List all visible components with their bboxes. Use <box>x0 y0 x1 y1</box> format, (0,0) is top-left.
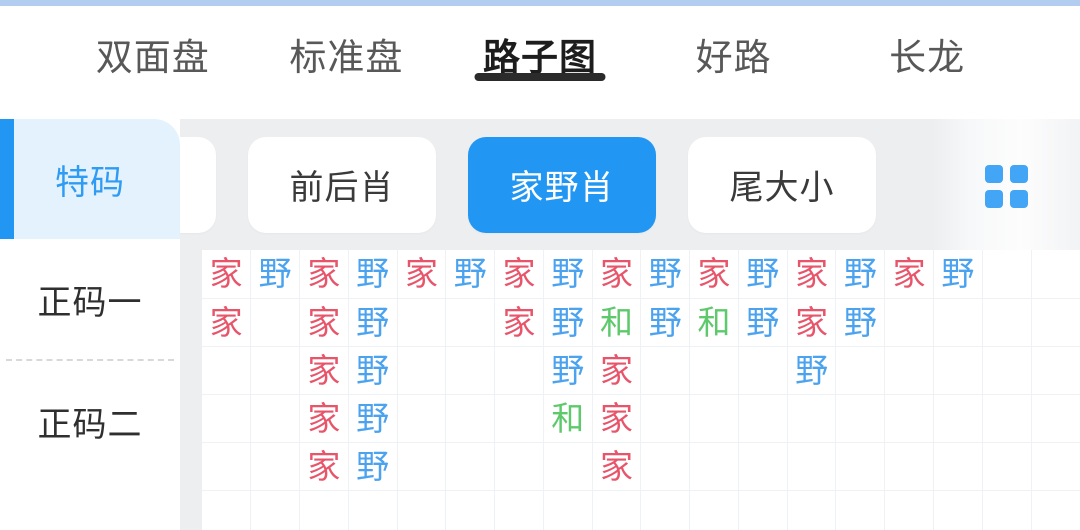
road-cell-c-jia: 家 <box>300 298 349 346</box>
road-cell-c-ye: 野 <box>348 346 397 394</box>
road-cell-c-he: 和 <box>543 394 592 442</box>
road-cell-c-ye: 野 <box>348 394 397 442</box>
right-panel: 前后肖 家野肖 尾大小 家野家野家野家野家野家野家野家野家家野家野和野和野家野家… <box>180 119 1080 530</box>
road-cell-empty <box>982 442 1031 490</box>
road-cell-empty <box>885 442 934 490</box>
road-cell-c-ye: 野 <box>348 442 397 490</box>
road-cell-empty <box>885 394 934 442</box>
road-cell-c-he: 和 <box>592 298 641 346</box>
tab-haolu[interactable]: 好路 <box>637 6 831 81</box>
road-cell-empty <box>933 298 982 346</box>
road-cell-c-ye: 野 <box>787 346 836 394</box>
road-cell-empty <box>251 490 300 530</box>
road-cell-c-he: 和 <box>690 298 739 346</box>
road-cell-c-jia: 家 <box>592 250 641 298</box>
tab-shuangmianpan[interactable]: 双面盘 <box>56 6 250 81</box>
filter-chip-scroller[interactable]: 前后肖 家野肖 尾大小 <box>180 137 876 233</box>
road-cell-empty <box>251 442 300 490</box>
road-cell-empty <box>933 346 982 394</box>
road-cell-empty <box>641 490 690 530</box>
road-cell-c-jia: 家 <box>300 346 349 394</box>
road-cell-empty <box>592 490 641 530</box>
road-cell-empty <box>787 490 836 530</box>
sidebar-item-tema[interactable]: 特码 <box>0 119 180 239</box>
road-cell-empty <box>397 346 446 394</box>
road-cell-empty <box>397 490 446 530</box>
road-cell-empty <box>202 442 251 490</box>
road-cell-empty <box>836 490 885 530</box>
road-table-body: 家野家野家野家野家野家野家野家野家家野家野和野和野家野家野野家野家野和家家野家 <box>202 250 1080 530</box>
road-cell-c-jia: 家 <box>495 250 544 298</box>
road-row: 家野家野家野家野家野家野家野家野 <box>202 250 1080 298</box>
road-cell-empty <box>641 346 690 394</box>
road-cell-empty <box>836 394 885 442</box>
road-cell-empty <box>1031 442 1080 490</box>
sidebar-item-zhengmaer[interactable]: 正码二 <box>0 361 180 481</box>
road-cell-empty <box>982 346 1031 394</box>
road-cell-c-jia: 家 <box>885 250 934 298</box>
road-cell-c-jia: 家 <box>690 250 739 298</box>
road-cell-c-jia: 家 <box>592 346 641 394</box>
tab-label: 标准盘 <box>289 35 403 81</box>
road-cell-empty <box>543 490 592 530</box>
road-cell-c-jia: 家 <box>495 298 544 346</box>
road-cell-c-jia: 家 <box>787 298 836 346</box>
road-cell-empty <box>1031 394 1080 442</box>
sidebar-item-zhengmayi[interactable]: 正码一 <box>0 239 180 359</box>
road-cell-c-jia: 家 <box>397 250 446 298</box>
top-tab-bar: 双面盘 标准盘 路子图 好路 长龙 <box>0 6 1080 119</box>
road-cell-c-jia: 家 <box>202 250 251 298</box>
road-cell-empty <box>202 394 251 442</box>
road-cell-empty <box>446 346 495 394</box>
road-cell-empty <box>982 490 1031 530</box>
road-cell-empty <box>982 298 1031 346</box>
road-cell-empty <box>397 298 446 346</box>
grid-2x2-icon <box>985 165 1028 208</box>
road-cell-empty <box>348 490 397 530</box>
road-cell-c-ye: 野 <box>543 250 592 298</box>
road-cell-empty <box>982 250 1031 298</box>
road-cell-empty <box>446 490 495 530</box>
road-cell-c-ye: 野 <box>933 250 982 298</box>
road-cell-empty <box>495 442 544 490</box>
road-cell-c-jia: 家 <box>202 298 251 346</box>
road-cell-empty <box>397 394 446 442</box>
road-cell-c-jia: 家 <box>300 394 349 442</box>
road-cell-empty <box>738 346 787 394</box>
road-cell-c-jia: 家 <box>300 250 349 298</box>
filter-chip-jiayexiao[interactable]: 家野肖 <box>468 137 656 233</box>
tab-changlong[interactable]: 长龙 <box>830 6 1024 81</box>
road-row: 家野野家野 <box>202 346 1080 394</box>
road-cell-empty <box>787 442 836 490</box>
road-cell-c-ye: 野 <box>446 250 495 298</box>
road-cell-c-ye: 野 <box>738 298 787 346</box>
road-cell-empty <box>836 346 885 394</box>
road-cell-empty <box>641 394 690 442</box>
road-cell-empty <box>495 490 544 530</box>
filter-chip-partial[interactable] <box>180 137 216 233</box>
road-cell-c-jia: 家 <box>300 442 349 490</box>
road-cell-empty <box>202 490 251 530</box>
road-cell-empty <box>933 394 982 442</box>
road-cell-empty <box>836 442 885 490</box>
road-cell-empty <box>543 442 592 490</box>
road-cell-empty <box>1031 298 1080 346</box>
road-cell-empty <box>690 394 739 442</box>
road-cell-empty <box>933 442 982 490</box>
road-cell-c-ye: 野 <box>543 298 592 346</box>
road-cell-empty <box>251 298 300 346</box>
filter-bar: 前后肖 家野肖 尾大小 <box>180 119 1080 250</box>
sidebar-item-label: 正码二 <box>38 397 143 446</box>
sidebar-item-label: 特码 <box>55 155 125 204</box>
road-cell-c-jia: 家 <box>592 442 641 490</box>
road-cell-empty <box>495 346 544 394</box>
road-cell-empty <box>885 346 934 394</box>
filter-chip-qianhouxiao[interactable]: 前后肖 <box>248 137 436 233</box>
road-row: 家野和家 <box>202 394 1080 442</box>
road-cell-c-ye: 野 <box>836 298 885 346</box>
road-cell-empty <box>202 346 251 394</box>
road-cell-empty <box>251 346 300 394</box>
road-cell-empty <box>300 490 349 530</box>
filter-chip-weidaxiao[interactable]: 尾大小 <box>688 137 876 233</box>
road-cell-c-ye: 野 <box>543 346 592 394</box>
road-cell-empty <box>885 298 934 346</box>
road-cell-empty <box>738 442 787 490</box>
road-cell-c-ye: 野 <box>348 298 397 346</box>
road-cell-c-jia: 家 <box>592 394 641 442</box>
grid-view-toggle-button[interactable] <box>932 119 1080 250</box>
road-cell-empty <box>690 442 739 490</box>
road-map-grid[interactable]: 家野家野家野家野家野家野家野家野家家野家野和野和野家野家野野家野家野和家家野家 <box>202 250 1080 530</box>
road-cell-empty <box>1031 346 1080 394</box>
road-row <box>202 490 1080 530</box>
road-cell-c-jia: 家 <box>787 250 836 298</box>
road-cell-empty <box>397 442 446 490</box>
road-cell-empty <box>446 442 495 490</box>
road-cell-empty <box>690 346 739 394</box>
road-table: 家野家野家野家野家野家野家野家野家家野家野和野和野家野家野野家野家野和家家野家 <box>202 250 1080 530</box>
road-cell-empty <box>251 394 300 442</box>
tab-label: 双面盘 <box>96 35 210 81</box>
road-cell-c-ye: 野 <box>836 250 885 298</box>
sidebar-item-label: 正码一 <box>38 275 143 324</box>
road-cell-empty <box>787 394 836 442</box>
road-cell-c-ye: 野 <box>641 298 690 346</box>
road-cell-empty <box>495 394 544 442</box>
tab-label: 好路 <box>696 35 772 81</box>
road-cell-c-ye: 野 <box>738 250 787 298</box>
road-cell-empty <box>641 442 690 490</box>
road-row: 家野家 <box>202 442 1080 490</box>
content-body: 特码 正码一 正码二 前后肖 家野肖 尾大小 <box>0 119 1080 530</box>
road-row: 家家野家野和野和野家野 <box>202 298 1080 346</box>
road-cell-empty <box>1031 250 1080 298</box>
road-cell-empty <box>738 490 787 530</box>
road-cell-empty <box>1031 490 1080 530</box>
road-cell-empty <box>446 394 495 442</box>
tab-active-underline <box>474 73 605 81</box>
road-cell-empty <box>933 490 982 530</box>
category-sidebar: 特码 正码一 正码二 <box>0 119 180 530</box>
road-cell-empty <box>690 490 739 530</box>
road-cell-empty <box>446 298 495 346</box>
road-cell-c-ye: 野 <box>251 250 300 298</box>
road-cell-c-ye: 野 <box>641 250 690 298</box>
tab-label: 长龙 <box>889 35 965 81</box>
tab-luzitu[interactable]: 路子图 <box>443 6 637 81</box>
road-cell-empty <box>885 490 934 530</box>
road-cell-c-ye: 野 <box>348 250 397 298</box>
road-cell-empty <box>982 394 1031 442</box>
tab-biaozhunpan[interactable]: 标准盘 <box>250 6 444 81</box>
road-cell-empty <box>738 394 787 442</box>
